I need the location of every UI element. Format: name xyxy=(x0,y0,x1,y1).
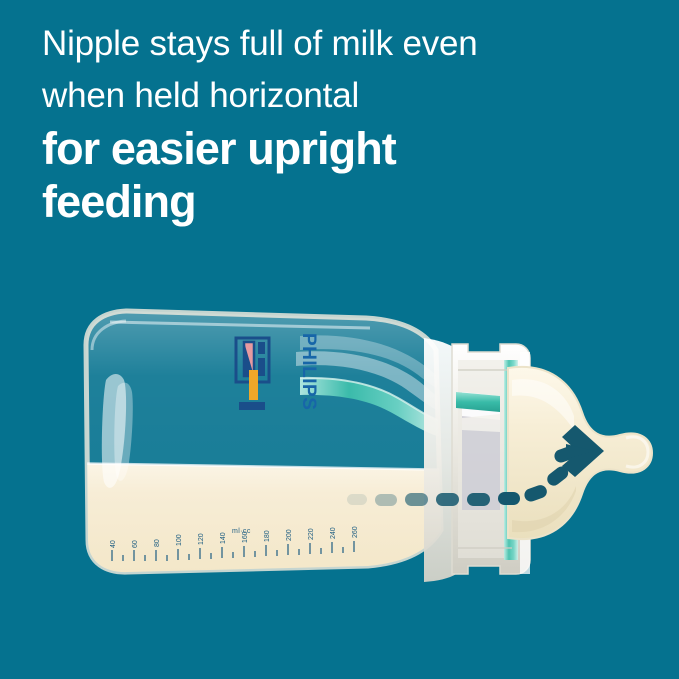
scale-tick-9: 220 xyxy=(308,528,315,540)
scale-tick-5: 140 xyxy=(220,532,227,544)
philips-wordmark: PHILIPS xyxy=(298,333,319,410)
promo-banner: Nipple stays full of milk even when held… xyxy=(0,0,679,679)
product-illustration: PHILIPS xyxy=(0,0,679,679)
scale-tick-10: 240 xyxy=(330,527,337,539)
scale-tick-2: 80 xyxy=(154,539,161,547)
scale-units-label: ml·cc xyxy=(232,528,251,535)
scale-tick-0: 40 xyxy=(110,540,117,548)
scale-tick-1: 60 xyxy=(132,540,139,548)
arrow-dash-6 xyxy=(498,492,520,505)
arrow-dash-4 xyxy=(436,493,459,506)
scale-tick-11: 260 xyxy=(352,526,359,538)
scale-tick-7: 180 xyxy=(264,530,271,542)
bottle-svg: PHILIPS xyxy=(0,0,679,679)
arrow-dash-2 xyxy=(375,494,397,506)
bottle-body: PHILIPS xyxy=(60,311,462,600)
scale-tick-8: 200 xyxy=(286,529,293,541)
arrow-dash-5 xyxy=(467,493,490,506)
milk-fill xyxy=(60,463,460,600)
arrow-dash-1 xyxy=(347,494,367,505)
scale-tick-3: 100 xyxy=(176,534,183,546)
scale-tick-4: 120 xyxy=(198,533,205,545)
arrow-dash-3 xyxy=(405,493,428,506)
